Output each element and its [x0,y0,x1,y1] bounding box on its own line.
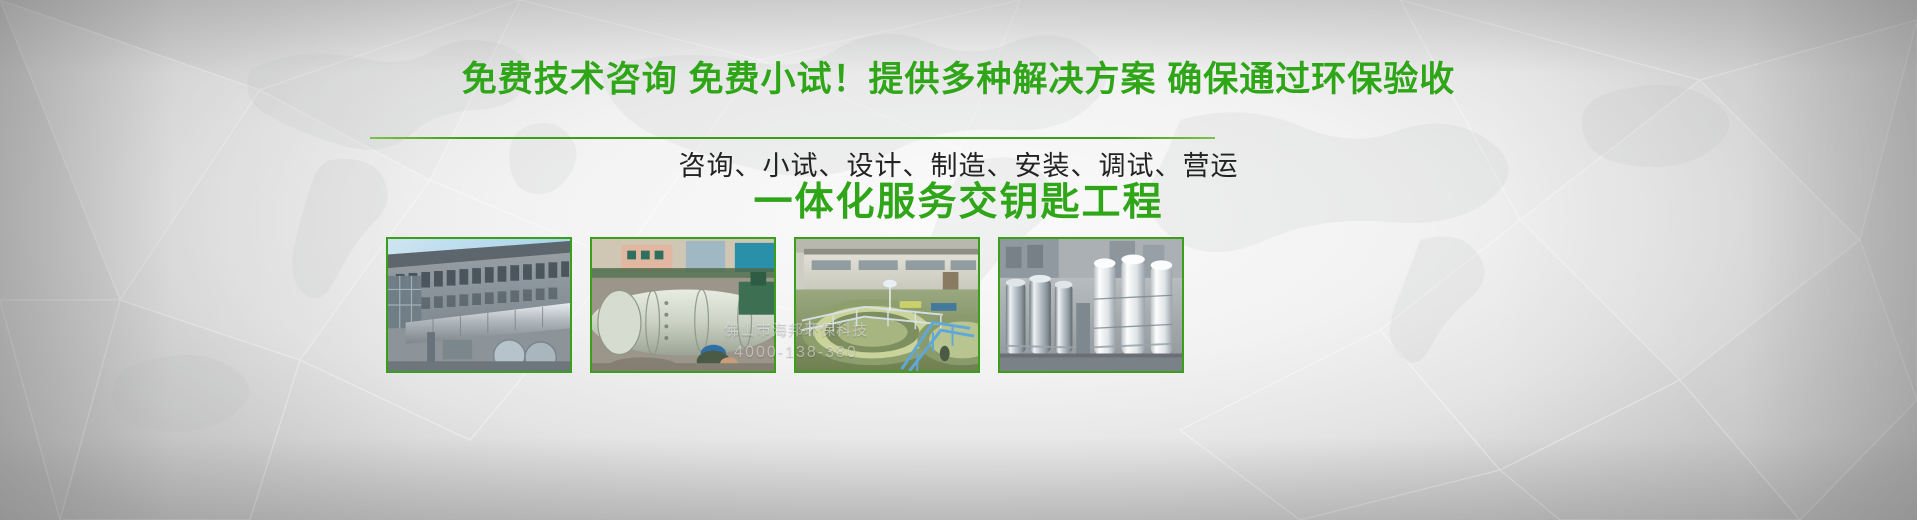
thumbnail-frp-scrubber-tanks[interactable] [590,237,776,373]
promo-banner: 免费技术咨询 免费小试！提供多种解决方案 确保通过环保验收 咨询、小试、设计、制… [0,0,1917,520]
banner-tagline: 一体化服务交钥匙工程 [0,178,1917,228]
filter-vessels-left [1006,275,1073,354]
banner-headline: 免费技术咨询 免费小试！提供多种解决方案 确保通过环保验收 [0,58,1917,102]
ro-membrane-vessels [1094,255,1172,356]
thumbnail-industrial-plant-ducting[interactable] [386,237,572,373]
thumbnail-image-2 [592,239,774,371]
thumbnail-ro-filter-vessels[interactable] [998,237,1184,373]
thumbnail-gallery [386,237,1184,373]
headline-divider [370,137,1215,139]
thumbnail-circular-clarifier[interactable] [794,237,980,373]
thumbnail-image-1 [388,239,570,371]
thumbnail-image-3 [796,239,978,371]
thumbnail-image-4 [1000,239,1182,371]
